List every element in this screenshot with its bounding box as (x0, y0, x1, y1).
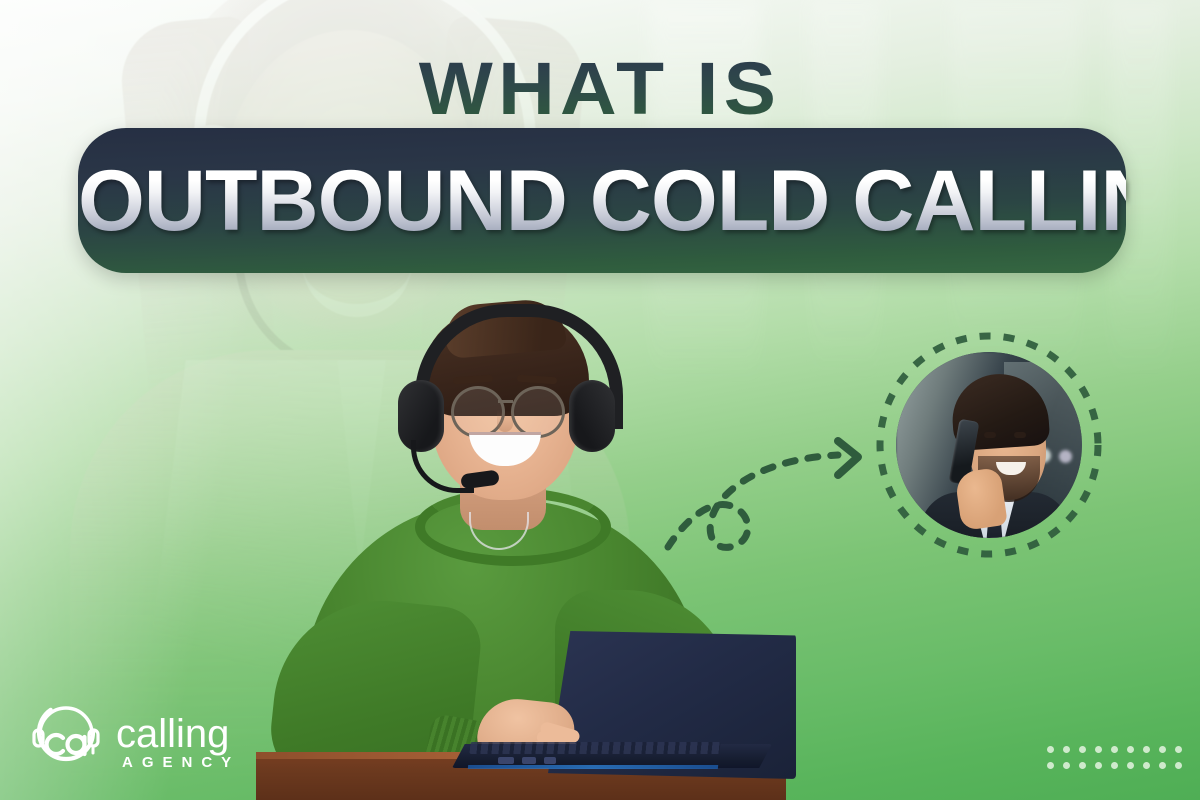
salesman-eye-left (984, 432, 996, 438)
grid-dot (1127, 762, 1134, 769)
grid-dot (1127, 746, 1134, 753)
grid-dot (1111, 746, 1118, 753)
logo-subtext: AGENCY (122, 755, 240, 770)
grid-dot (1095, 762, 1102, 769)
photo-bokeh-light (1059, 450, 1072, 463)
page-title: OUTBOUND COLD CALLING? (78, 158, 1126, 244)
laptop-port (544, 757, 556, 764)
grid-dot (1047, 762, 1054, 769)
grid-dot (1159, 746, 1166, 753)
headset-earcup-right (569, 380, 615, 452)
brand-logo[interactable]: calling AGENCY (30, 706, 250, 784)
grid-dot (1111, 762, 1118, 769)
salesman-hand (954, 467, 1008, 531)
grid-dot (1063, 762, 1070, 769)
grid-dot (1047, 746, 1054, 753)
laptop-accent-strip (468, 765, 718, 769)
grid-dot (1079, 762, 1086, 769)
salesman-eye-right (1014, 432, 1026, 438)
laptop-port (498, 757, 514, 764)
laptop-port (522, 757, 536, 764)
grid-dot (1159, 762, 1166, 769)
title-banner: OUTBOUND COLD CALLING? (78, 128, 1126, 273)
grid-dot (1143, 746, 1150, 753)
banner-canvas: WHAT IS OUTBOUND COLD CALLING? calling A… (0, 0, 1200, 800)
ca-headset-smiley-icon (30, 706, 104, 776)
page-eyebrow-title: WHAT IS (0, 52, 1200, 126)
grid-dot (1079, 746, 1086, 753)
grid-dot (1095, 746, 1102, 753)
salesman-on-phone-photo (896, 352, 1082, 538)
dashed-curved-arrow-icon (660, 435, 880, 555)
grid-dot (1175, 762, 1182, 769)
logo-wordmark: calling (116, 714, 229, 754)
grid-dot (1175, 746, 1182, 753)
grid-dot (1143, 762, 1150, 769)
grid-dot (1063, 746, 1070, 753)
laptop-keyboard (469, 742, 720, 754)
decorative-dot-grid (1047, 746, 1191, 778)
